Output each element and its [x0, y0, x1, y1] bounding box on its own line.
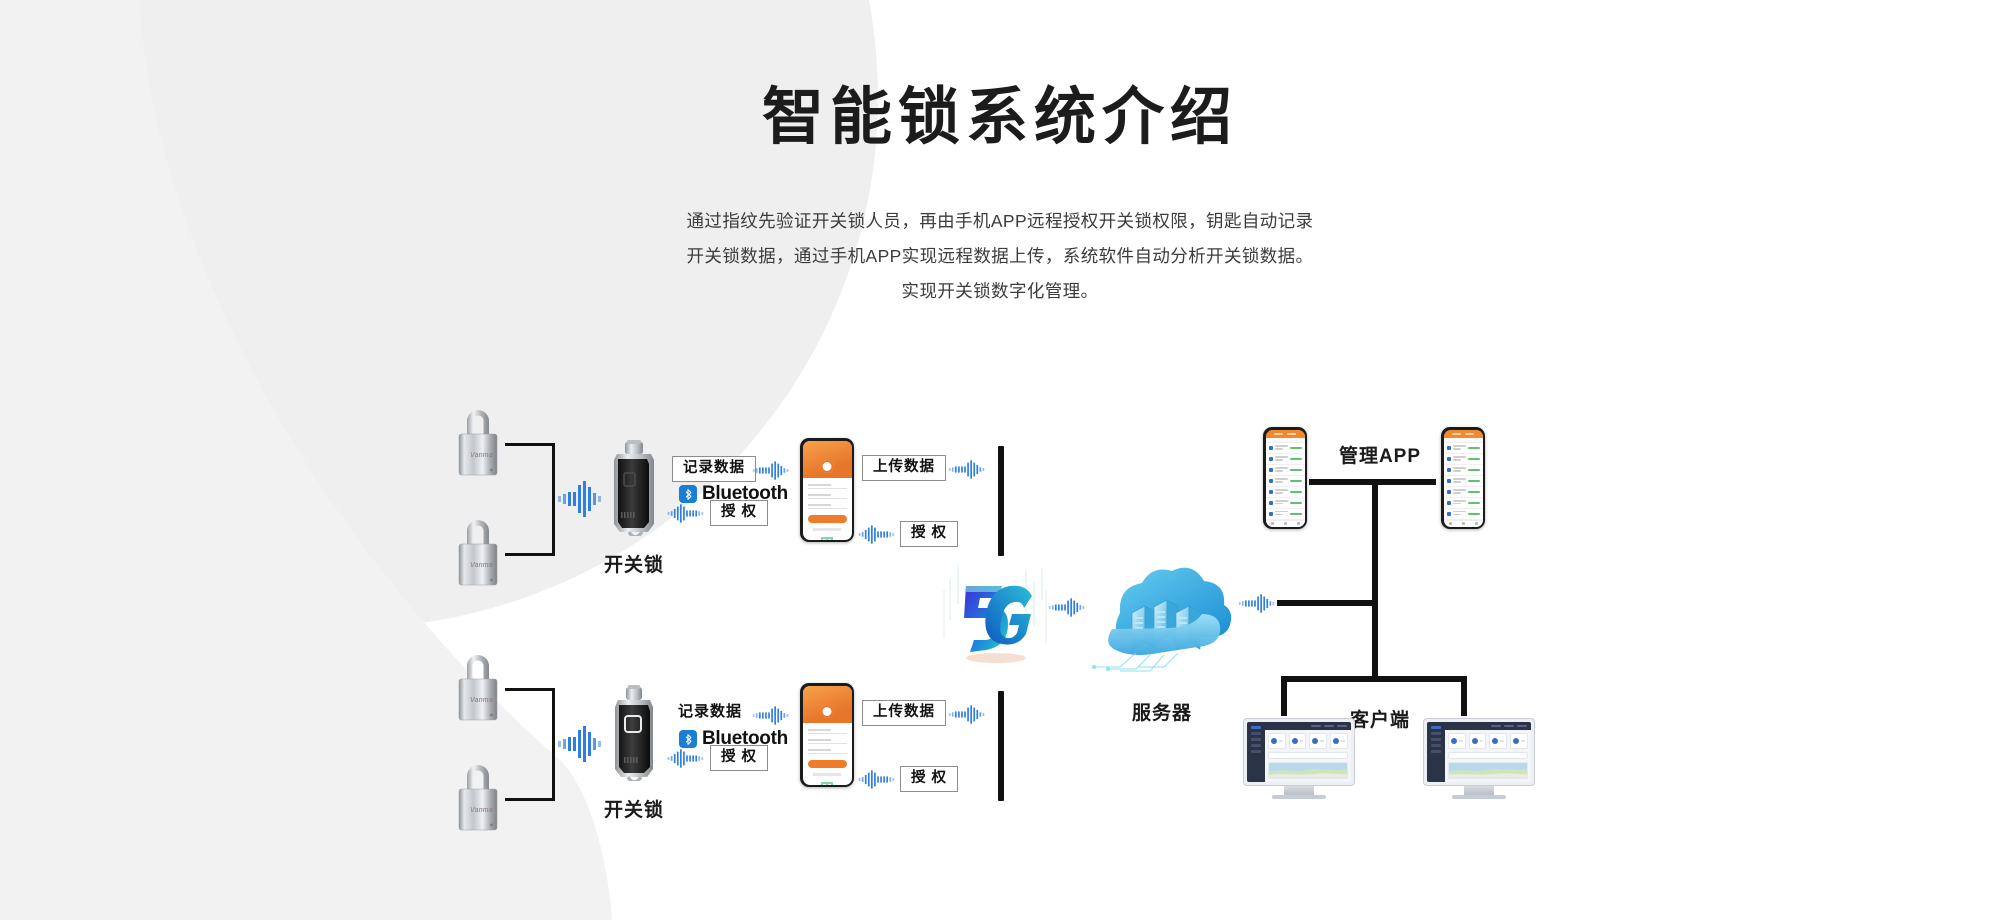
- smart-lock-device-icon: [604, 685, 664, 781]
- stat-card[interactable]: [1448, 733, 1466, 749]
- login-code-field[interactable]: [808, 503, 847, 509]
- item-status: [1290, 480, 1302, 482]
- list-item[interactable]: [1266, 465, 1305, 476]
- tree-leg-left: [1281, 676, 1287, 716]
- item-text: [1275, 445, 1288, 451]
- item-status: [1290, 469, 1302, 471]
- tree-leg-right: [1461, 676, 1467, 716]
- dotted-arrow-icon: [558, 477, 602, 521]
- dotted-arrow-icon: [558, 722, 602, 766]
- connector-line: [505, 798, 555, 801]
- dashboard-main: [1265, 722, 1351, 782]
- authorize-label: 授 权: [900, 766, 958, 792]
- item-text: [1453, 478, 1466, 484]
- record-data-tag: 记录数据: [672, 456, 756, 482]
- bluetooth-icon: [679, 485, 697, 503]
- lock-device-label: 开关锁: [604, 795, 664, 822]
- stat-card[interactable]: [1469, 733, 1487, 749]
- list-item[interactable]: [1266, 443, 1305, 454]
- item-status: [1290, 458, 1302, 460]
- smartphone-icon[interactable]: [1441, 427, 1485, 529]
- item-status: [1290, 447, 1302, 449]
- page-title: 智能锁系统介绍: [0, 84, 2000, 152]
- item-text: [1275, 511, 1288, 517]
- dotted-arrow-icon: [855, 523, 895, 546]
- item-status: [1468, 469, 1480, 471]
- stat-card[interactable]: [1289, 733, 1307, 749]
- item-icon: [1269, 512, 1273, 516]
- monitor-foot: [1272, 795, 1326, 799]
- item-text: [1453, 489, 1466, 495]
- poster-canvas: 智能锁系统介绍 通过指纹先验证开关锁人员，再由手机APP远程授权开关锁权限，钥匙…: [0, 0, 2000, 920]
- item-icon: [1447, 490, 1451, 494]
- login-form: [803, 723, 852, 784]
- bluetooth-icon: [679, 730, 697, 748]
- dashboard-screen: [1427, 722, 1531, 782]
- list-item[interactable]: [1444, 443, 1483, 454]
- list-item[interactable]: [1444, 454, 1483, 465]
- dotted-arrow-icon: [752, 459, 792, 482]
- item-icon: [1447, 468, 1451, 472]
- list-item[interactable]: [1266, 498, 1305, 509]
- padlock-icon: [455, 513, 501, 587]
- connector-line: [552, 443, 555, 556]
- cloud-server-icon: [1090, 555, 1235, 680]
- item-icon: [1269, 479, 1273, 483]
- qr-icon[interactable]: [821, 782, 833, 784]
- monitor-bezel: [1423, 718, 1535, 786]
- list-item[interactable]: [1444, 487, 1483, 498]
- dashboard-screen: [1247, 722, 1351, 782]
- login-account-field[interactable]: [808, 728, 847, 734]
- monitor-stand: [1284, 786, 1313, 795]
- phone-login-screen: [803, 686, 852, 785]
- stat-card[interactable]: [1330, 733, 1348, 749]
- smartphone-icon[interactable]: [800, 438, 854, 542]
- item-status: [1290, 502, 1302, 504]
- login-submit-button[interactable]: [808, 760, 847, 768]
- authorize-label: 授 权: [900, 521, 958, 547]
- list-item[interactable]: [1444, 465, 1483, 476]
- tree-spine: [1372, 479, 1378, 682]
- login-note: [813, 528, 841, 531]
- vertical-divider: [998, 446, 1004, 556]
- item-icon: [1269, 468, 1273, 472]
- item-icon: [1447, 501, 1451, 505]
- dashboard-toolbar[interactable]: [1265, 722, 1351, 730]
- upload-data-label: 上传数据: [862, 455, 946, 481]
- connector-line: [505, 553, 555, 556]
- app-top-bar: [1266, 430, 1305, 439]
- dotted-arrow-icon: [664, 747, 704, 770]
- padlock-icon: [455, 648, 501, 722]
- upload-data-tag: 上传数据: [862, 700, 946, 726]
- authorize-tag-phone: 授 权: [900, 766, 958, 792]
- monitor-foot: [1452, 795, 1506, 799]
- lock-device-label: 开关锁: [604, 550, 664, 577]
- authorize-label: 授 权: [710, 500, 768, 526]
- list-item[interactable]: [1444, 498, 1483, 509]
- login-hero-banner: [803, 686, 852, 724]
- page-subtitle: 通过指纹先验证开关锁人员，再由手机APP远程授权开关锁权限，钥匙自动记录 开关锁…: [0, 204, 2000, 309]
- list-item[interactable]: [1266, 476, 1305, 487]
- item-status: [1468, 480, 1480, 482]
- item-icon: [1447, 457, 1451, 461]
- connector-line: [552, 688, 555, 801]
- padlock-icon: [455, 403, 501, 477]
- item-status: [1468, 458, 1480, 460]
- authorize-label: 授 权: [710, 745, 768, 771]
- upload-data-label: 上传数据: [862, 700, 946, 726]
- desktop-monitor-icon[interactable]: [1243, 718, 1355, 799]
- dashboard-toolbar[interactable]: [1445, 722, 1531, 730]
- dashboard-stat-cards: [1265, 730, 1351, 752]
- 5g-icon: [940, 560, 1050, 675]
- tree-branch-bottom: [1281, 676, 1467, 682]
- item-status: [1468, 491, 1480, 493]
- dotted-arrow-icon: [752, 704, 792, 727]
- list-item[interactable]: [1444, 509, 1483, 520]
- monitor-stand: [1464, 786, 1493, 795]
- item-text: [1275, 500, 1288, 506]
- list-item[interactable]: [1444, 476, 1483, 487]
- item-text: [1453, 511, 1466, 517]
- subtitle-line-3: 实现开关锁数字化管理。: [0, 274, 2000, 309]
- qr-icon[interactable]: [821, 537, 833, 539]
- login-password-field[interactable]: [808, 493, 847, 499]
- login-code-field[interactable]: [808, 748, 847, 754]
- header: 智能锁系统介绍 通过指纹先验证开关锁人员，再由手机APP远程授权开关锁权限，钥匙…: [0, 0, 2000, 309]
- vertical-divider: [998, 691, 1004, 801]
- login-submit-button[interactable]: [808, 515, 847, 523]
- login-form: [803, 478, 852, 539]
- app-bottom-nav[interactable]: [1444, 520, 1483, 527]
- list-item[interactable]: [1266, 454, 1305, 465]
- record-data-label: 记录数据: [672, 456, 756, 482]
- item-text: [1275, 478, 1288, 484]
- smartphone-icon[interactable]: [1263, 427, 1307, 529]
- padlock-icon: [455, 758, 501, 832]
- tree-branch-inbound: [1277, 600, 1377, 606]
- stat-card[interactable]: [1309, 733, 1327, 749]
- dotted-arrow-icon: [664, 502, 704, 525]
- authorize-tag-phone: 授 权: [900, 521, 958, 547]
- dashboard-map: [1448, 762, 1528, 779]
- dashboard-map: [1268, 762, 1348, 779]
- manage-app-label: 管理APP: [1300, 441, 1460, 468]
- authorize-tag-device: 授 权: [710, 745, 768, 771]
- server-label: 服务器: [1102, 698, 1222, 725]
- item-icon: [1269, 490, 1273, 494]
- stat-card[interactable]: [1268, 733, 1286, 749]
- dotted-arrow-icon: [948, 703, 988, 726]
- login-account-field[interactable]: [808, 483, 847, 489]
- dashboard-stat-cards: [1445, 730, 1531, 752]
- upload-data-tag: 上传数据: [862, 455, 946, 481]
- tree-branch-top: [1309, 479, 1436, 485]
- item-text: [1453, 445, 1466, 451]
- record-data-tag: 记录数据: [676, 700, 744, 725]
- dashboard-sidebar[interactable]: [1427, 722, 1445, 782]
- subtitle-line-1: 通过指纹先验证开关锁人员，再由手机APP远程授权开关锁权限，钥匙自动记录: [0, 204, 2000, 239]
- subtitle-line-2: 开关锁数据，通过手机APP实现远程数据上传，系统软件自动分析开关锁数据。: [0, 239, 2000, 274]
- manage-app-list-screen: [1444, 430, 1483, 527]
- stat-card[interactable]: [1510, 733, 1528, 749]
- smartphone-icon[interactable]: [800, 683, 854, 787]
- stat-card[interactable]: [1489, 733, 1507, 749]
- item-icon: [1447, 512, 1451, 516]
- app-top-bar: [1444, 430, 1483, 439]
- dotted-arrow-icon: [948, 458, 988, 481]
- item-status: [1290, 513, 1302, 515]
- login-hero-banner: [803, 441, 852, 479]
- dotted-arrow-icon: [855, 768, 895, 791]
- item-status: [1468, 502, 1480, 504]
- item-text: [1275, 467, 1288, 473]
- item-icon: [1269, 501, 1273, 505]
- dashboard-line-chart: [1448, 752, 1528, 759]
- monitor-bezel: [1243, 718, 1355, 786]
- dashboard-line-chart: [1268, 752, 1348, 759]
- connector-line: [505, 688, 555, 691]
- item-text: [1453, 456, 1466, 462]
- item-text: [1275, 489, 1288, 495]
- dashboard-sidebar[interactable]: [1247, 722, 1265, 782]
- dotted-arrow-icon: [1238, 592, 1278, 615]
- item-text: [1453, 500, 1466, 506]
- phone-login-screen: [803, 441, 852, 540]
- item-status: [1468, 447, 1480, 449]
- list-item[interactable]: [1266, 509, 1305, 520]
- item-icon: [1269, 457, 1273, 461]
- smart-lock-device-icon: [604, 440, 664, 536]
- list-item[interactable]: [1266, 487, 1305, 498]
- item-icon: [1447, 479, 1451, 483]
- item-status: [1290, 491, 1302, 493]
- authorize-tag-device: 授 权: [710, 500, 768, 526]
- item-icon: [1447, 446, 1451, 450]
- login-password-field[interactable]: [808, 738, 847, 744]
- item-icon: [1269, 446, 1273, 450]
- app-bottom-nav[interactable]: [1266, 520, 1305, 527]
- login-note: [813, 773, 841, 776]
- manage-app-list-screen: [1266, 430, 1305, 527]
- connector-line: [505, 443, 555, 446]
- item-text: [1275, 456, 1288, 462]
- item-status: [1468, 513, 1480, 515]
- dashboard-main: [1445, 722, 1531, 782]
- record-data-label: 记录数据: [676, 700, 744, 725]
- desktop-monitor-icon[interactable]: [1423, 718, 1535, 799]
- dotted-arrow-icon: [1048, 596, 1088, 619]
- item-text: [1453, 467, 1466, 473]
